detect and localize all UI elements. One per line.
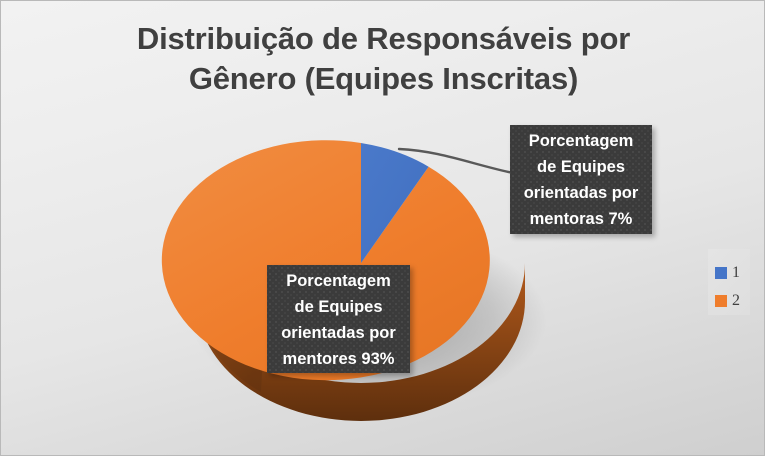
data-label-mentores[interactable]: Porcentagem de Equipes orientadas por me… bbox=[267, 265, 410, 373]
legend-swatch-1-icon bbox=[715, 267, 727, 279]
chart-container: Distribuição de Responsáveis por Gênero … bbox=[0, 0, 765, 456]
legend-item-1[interactable]: 1 bbox=[715, 259, 750, 287]
legend-item-2[interactable]: 2 bbox=[715, 287, 750, 315]
data-label-mentoras[interactable]: Porcentagem de Equipes orientadas por me… bbox=[510, 125, 652, 234]
legend-label-2: 2 bbox=[732, 293, 740, 309]
chart-legend[interactable]: 1 2 bbox=[708, 249, 750, 315]
legend-label-1: 1 bbox=[732, 265, 740, 281]
legend-swatch-2-icon bbox=[715, 295, 727, 307]
